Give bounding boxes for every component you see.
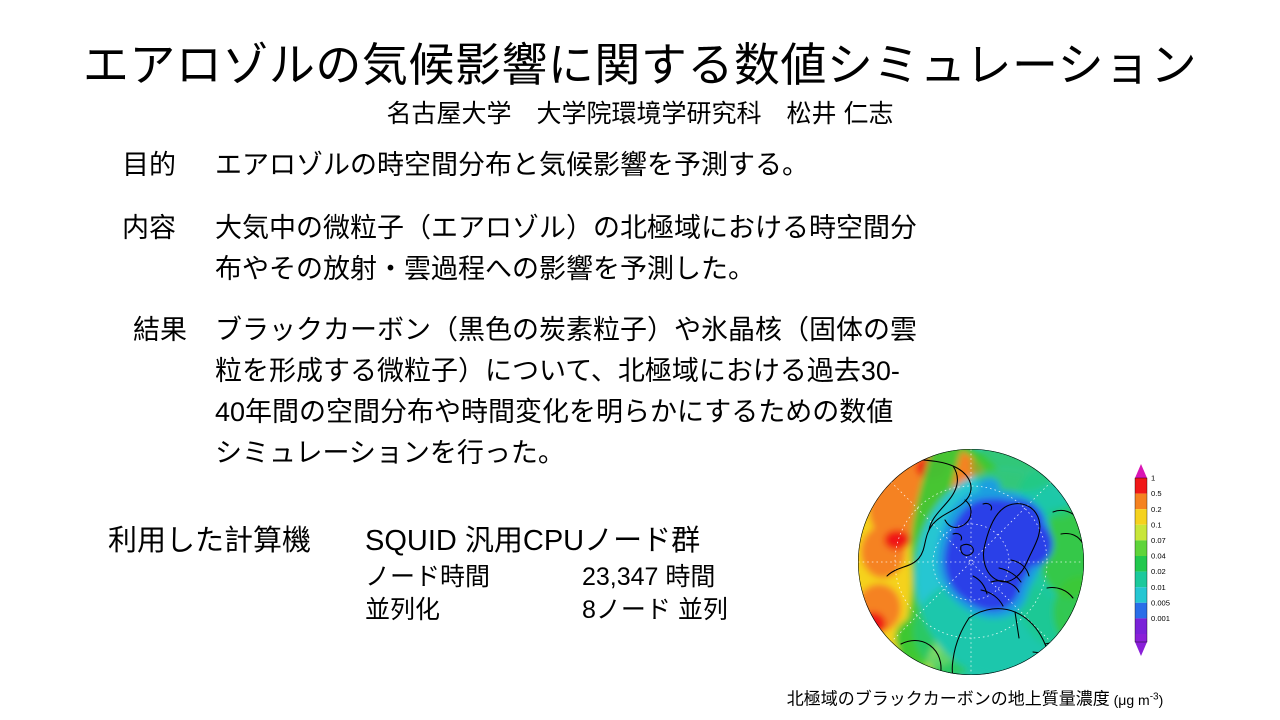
colorbar-tick-labels: 1 0.5 0.2 0.1 0.07 0.04 0.02 0.01 0.005 … [1151, 474, 1170, 623]
colorbar: 1 0.5 0.2 0.1 0.07 0.04 0.02 0.01 0.005 … [1123, 460, 1203, 660]
colorbar-bands [1135, 478, 1147, 642]
page-subtitle: 名古屋大学 大学院環境学研究科 松井 仁志 [0, 98, 1280, 130]
section-content-line-1: 大気中の微粒子（エアロゾル）の北極域における時空間分 [215, 208, 1082, 249]
section-result-line-2: 粒を形成する微粒子）について、北極域における過去30- [215, 351, 1093, 392]
figure-caption: 北極域のブラックカーボンの地上質量濃度 (μg m-3) [740, 685, 1210, 712]
section-purpose-line-1: エアロゾルの時空間分布と気候影響を予測する。 [215, 145, 1082, 186]
colorbar-tick: 0.5 [1151, 489, 1162, 498]
polar-map-svg [857, 448, 1085, 676]
colorbar-tick: 0.1 [1151, 520, 1162, 529]
figure-caption-main: 北極域のブラックカーボンの地上質量濃度 [787, 690, 1110, 709]
section-purpose-label: 目的 [122, 145, 215, 186]
colorbar-over-arrow [1135, 464, 1147, 478]
compute-label: 利用した計算機 [108, 521, 365, 561]
colorbar-tick: 0.005 [1151, 598, 1170, 607]
colorbar-tick: 0.2 [1151, 505, 1162, 514]
section-content-line-2: 布やその放射・雲過程への影響を予測した。 [215, 249, 1082, 290]
section-result-line-3: 40年間の空間分布や時間変化を明らかにするための数値 [215, 392, 1093, 433]
figure-caption-unit-post: ) [1159, 692, 1164, 708]
figure-caption-unit: (μg m-3) [1110, 692, 1164, 708]
section-purpose: 目的 エアロゾルの時空間分布と気候影響を予測する。 [122, 145, 1082, 186]
section-content: 内容 大気中の微粒子（エアロゾル）の北極域における時空間分 布やその放射・雲過程… [122, 208, 1082, 290]
colorbar-svg: 1 0.5 0.2 0.1 0.07 0.04 0.02 0.01 0.005 … [1123, 460, 1203, 660]
section-result-line-1: ブラックカーボン（黒色の炭素粒子）や氷晶核（固体の雲 [215, 310, 1093, 351]
compute-spec-value-parallelism: 8ノード 並列 [582, 594, 728, 627]
colorbar-tick: 0.07 [1151, 536, 1166, 545]
colorbar-tick: 0.02 [1151, 567, 1166, 576]
compute-spec-name-parallelism: 並列化 [365, 594, 582, 627]
colorbar-tick: 0.01 [1151, 583, 1166, 592]
section-purpose-body: エアロゾルの時空間分布と気候影響を予測する。 [215, 145, 1082, 186]
section-content-body: 大気中の微粒子（エアロゾル）の北極域における時空間分 布やその放射・雲過程への影… [215, 208, 1082, 290]
compute-spec-name-node-hours: ノード時間 [365, 561, 582, 594]
section-result-label: 結果 [133, 310, 215, 351]
colorbar-under-arrow [1135, 642, 1147, 656]
compute-machine-name: SQUID 汎用CPUノード群 [365, 521, 700, 561]
figure-caption-unit-pre: (μg m [1114, 692, 1150, 708]
colorbar-tick: 1 [1151, 474, 1155, 483]
section-content-label: 内容 [122, 208, 215, 249]
figure-arctic-black-carbon: 1 0.5 0.2 0.1 0.07 0.04 0.02 0.01 0.005 … [740, 440, 1210, 720]
slide-root: エアロゾルの気候影響に関する数値シミュレーション 名古屋大学 大学院環境学研究科… [0, 0, 1280, 720]
page-title: エアロゾルの気候影響に関する数値シミュレーション [0, 38, 1280, 92]
colorbar-tick: 0.001 [1151, 614, 1170, 623]
figure-caption-unit-exponent: -3 [1150, 691, 1159, 702]
polar-map-image [857, 448, 1085, 676]
colorbar-tick: 0.04 [1151, 552, 1166, 561]
compute-spec-value-node-hours: 23,347 時間 [582, 561, 715, 594]
